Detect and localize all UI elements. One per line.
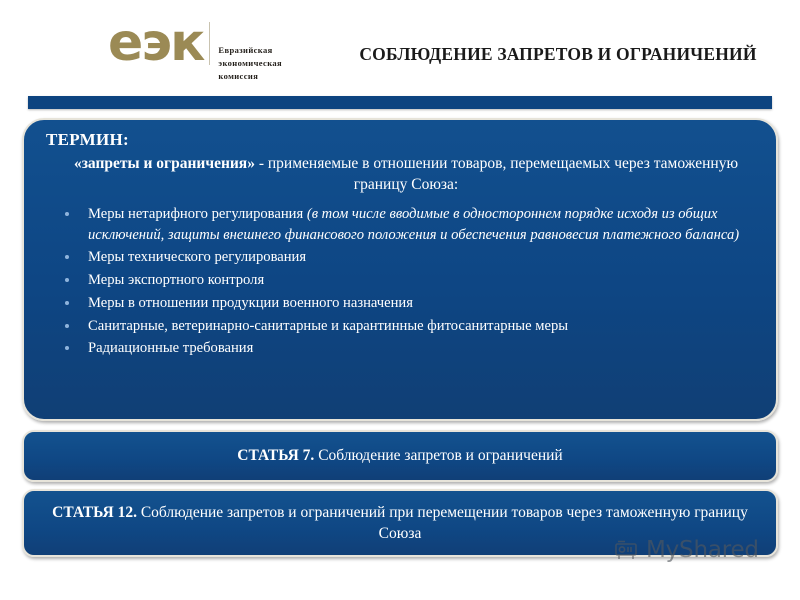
term-definition-keyword: «запреты и ограничения» (74, 155, 255, 172)
list-item: Меры экспортного контроля (58, 270, 772, 291)
list-item: Санитарные, ветеринарно-санитарные и кар… (58, 316, 772, 337)
projector-icon (613, 537, 639, 563)
measures-list: Меры нетарифного регулирования (в том чи… (58, 204, 772, 361)
list-item-text: Меры нетарифного регулирования (88, 206, 307, 222)
eec-logo-mark: еэк (108, 22, 210, 65)
term-definition: «запреты и ограничения» - применяемые в … (68, 153, 744, 196)
myshared-watermark-label: MyShared (646, 537, 759, 563)
eec-logo-line-2: экономическая (218, 57, 282, 70)
slide-header: еэк Евразийская экономическая комиссия С… (0, 0, 800, 92)
header-divider-bar (28, 96, 772, 109)
eec-logo-line-1: Евразийская (218, 44, 282, 57)
list-item: Радиационные требования (58, 338, 772, 359)
eec-logo: еэк Евразийская экономическая комиссия (108, 22, 282, 82)
term-label: ТЕРМИН: (46, 130, 129, 150)
article-7-label: СТАТЬЯ 7. (237, 447, 314, 464)
article-7-body: Соблюдение запретов и ограничений (314, 447, 562, 464)
article-12-label: СТАТЬЯ 12. (52, 504, 137, 521)
list-item-text: Меры технического регулирования (88, 249, 306, 265)
myshared-watermark: MyShared (613, 537, 759, 563)
article-7-panel: СТАТЬЯ 7. Соблюдение запретов и ограниче… (22, 430, 778, 482)
slide: еэк Евразийская экономическая комиссия С… (0, 0, 800, 600)
term-panel: ТЕРМИН: «запреты и ограничения» - примен… (22, 118, 778, 421)
eec-logo-line-3: комиссия (218, 70, 282, 83)
eec-logo-wordmark: Евразийская экономическая комиссия (218, 44, 282, 82)
page-title: СОБЛЮДЕНИЕ ЗАПРЕТОВ И ОГРАНИЧЕНИЙ (332, 44, 784, 65)
list-item-text: Радиационные требования (88, 340, 253, 356)
article-7-text: СТАТЬЯ 7. Соблюдение запретов и ограниче… (40, 445, 760, 466)
list-item-text: Меры экспортного контроля (88, 272, 264, 288)
list-item: Меры в отношении продукции военного назн… (58, 293, 772, 314)
term-definition-body: - применяемые в отношении товаров, перем… (255, 155, 738, 193)
list-item: Меры нетарифного регулирования (в том чи… (58, 204, 772, 245)
list-item-text: Санитарные, ветеринарно-санитарные и кар… (88, 318, 568, 334)
list-item-text: Меры в отношении продукции военного назн… (88, 295, 413, 311)
list-item: Меры технического регулирования (58, 247, 772, 268)
